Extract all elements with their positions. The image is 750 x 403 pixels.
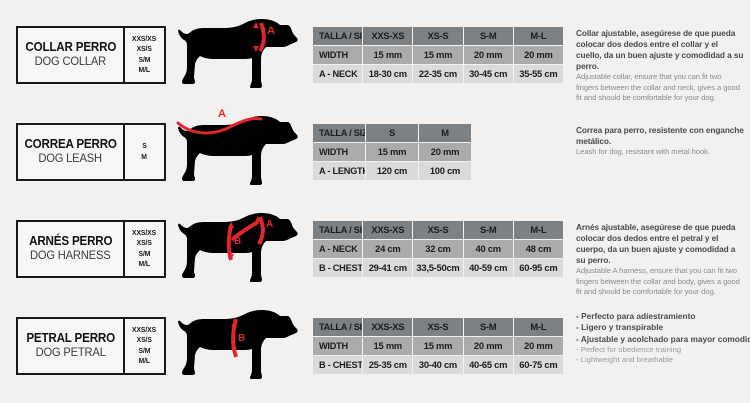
cell: 15 mm — [363, 336, 413, 355]
table-row: WIDTH 15 mm 20 mm — [313, 142, 472, 161]
dog-silhouette-petral: B — [172, 299, 302, 392]
row-label: B - CHEST — [313, 355, 363, 374]
size-codes-box: S M — [124, 123, 166, 181]
header-cell: XS-S — [413, 26, 463, 45]
cell: 24 cm — [363, 239, 413, 258]
size-table: TALLA / SIZE XXS-XS XS-S S-M M-L WIDTH 1… — [312, 26, 564, 84]
feature-item-es: - Perfecto para adiestramiento — [576, 311, 750, 322]
header-cell: XXS-XS — [363, 317, 413, 336]
product-row-collar: COLLAR PERRO DOG COLLAR XXS/XS XS/S S/M … — [0, 6, 750, 103]
description-es: Arnés ajustable, asegúrese de que pueda … — [576, 222, 744, 266]
product-row-petral: PETRAL PERRO DOG PETRAL XXS/XS XS/S S/M … — [0, 297, 750, 394]
table-row: WIDTH 15 mm 15 mm 20 mm 20 mm — [313, 336, 564, 355]
size-code: XXS/XS — [132, 325, 156, 335]
cell: 40 cm — [463, 239, 513, 258]
cell: 20 mm — [513, 336, 563, 355]
size-code: M/L — [139, 65, 150, 75]
cell: 18-30 cm — [363, 64, 413, 83]
row-label: B - CHEST — [313, 258, 363, 277]
table-header-row: TALLA / SIZE XXS-XS XS-S S-M M-L — [313, 220, 564, 239]
header-cell: TALLA / SIZE — [313, 317, 363, 336]
product-row-harness: ARNÉS PERRO DOG HARNESS XXS/XS XS/S S/M … — [0, 200, 750, 297]
size-code: S/M — [139, 249, 151, 259]
marker-label-a: A — [218, 108, 226, 120]
cell: 15 mm — [363, 45, 413, 64]
size-code: XS/S — [137, 238, 152, 248]
dog-silhouette-harness: A B — [172, 202, 302, 295]
product-name-box: CORREA PERRO DOG LEASH — [16, 123, 124, 181]
header-cell: S-M — [463, 26, 513, 45]
size-code: S/M — [139, 346, 151, 356]
description-es: Collar ajustable, asegúrese de que pueda… — [576, 28, 744, 72]
size-chart: COLLAR PERRO DOG COLLAR XXS/XS XS/S S/M … — [0, 0, 750, 403]
product-name-es: PETRAL PERRO — [26, 332, 115, 345]
product-name-es: COLLAR PERRO — [25, 41, 116, 54]
cell: 120 cm — [366, 161, 419, 180]
header-cell: M-L — [513, 317, 563, 336]
cell: 100 cm — [419, 161, 472, 180]
marker-label-a: A — [266, 219, 273, 230]
size-code: XS/S — [137, 44, 152, 54]
size-table: TALLA / SIZE XXS-XS XS-S S-M M-L WIDTH 1… — [312, 317, 564, 375]
size-table-wrap: TALLA / SIZE XXS-XS XS-S S-M M-L A - NEC… — [312, 220, 564, 278]
size-code: XS/S — [137, 335, 152, 345]
header-cell: TALLA / SIZE — [313, 26, 363, 45]
size-codes-box: XXS/XS XS/S S/M M/L — [124, 317, 166, 375]
header-cell: XXS-XS — [363, 26, 413, 45]
description-es: Correa para perro, resistente con enganc… — [576, 125, 744, 147]
cell: 22-35 cm — [413, 64, 463, 83]
header-cell: XXS-XS — [363, 220, 413, 239]
feature-item-es: - Ligero y transpirable — [576, 322, 750, 333]
product-name-es: ARNÉS PERRO — [29, 235, 112, 248]
label-block: CORREA PERRO DOG LEASH S M — [16, 123, 166, 181]
table-row: B - CHEST 25-35 cm 30-40 cm 40-65 cm 60-… — [313, 355, 564, 374]
header-cell: S-M — [463, 317, 513, 336]
feature-item-en: - Lightweight and breathable — [576, 355, 750, 365]
cell: 15 mm — [413, 336, 463, 355]
header-cell: S — [366, 123, 419, 142]
table-header-row: TALLA / SIZE XXS-XS XS-S S-M M-L — [313, 317, 564, 336]
header-cell: M-L — [513, 26, 563, 45]
feature-list: - Perfecto para adiestramiento - Ligero … — [576, 311, 750, 366]
description-block: Correa para perro, resistente con enganc… — [576, 103, 744, 158]
table-header-row: TALLA / SIZE XXS-XS XS-S S-M M-L — [313, 26, 564, 45]
size-table-wrap: TALLA / SIZE S M WIDTH 15 mm 20 mm A - L… — [312, 123, 564, 181]
cell: 35-55 cm — [513, 64, 563, 83]
product-name-box: ARNÉS PERRO DOG HARNESS — [16, 220, 124, 278]
marker-label-b: B — [238, 333, 245, 344]
header-cell: XS-S — [413, 317, 463, 336]
cell: 33,5-50cm — [413, 258, 463, 277]
cell: 20 mm — [419, 142, 472, 161]
cell: 20 mm — [463, 336, 513, 355]
size-code: M — [142, 152, 148, 162]
size-code: XXS/XS — [132, 228, 156, 238]
size-code: S — [142, 141, 146, 151]
row-label: WIDTH — [313, 45, 363, 64]
cell: 20 mm — [513, 45, 563, 64]
product-name-en: DOG COLLAR — [35, 55, 106, 67]
dog-silhouette-collar: A — [172, 8, 302, 101]
table-row: B - CHEST 29-41 cm 33,5-50cm 40-59 cm 60… — [313, 258, 564, 277]
table-row: A - NECK 18-30 cm 22-35 cm 30-45 cm 35-5… — [313, 64, 564, 83]
product-name-box: COLLAR PERRO DOG COLLAR — [16, 26, 124, 84]
product-name-es: CORREA PERRO — [24, 138, 116, 151]
description-en: Adjustable collar, ensure that you can f… — [576, 72, 744, 103]
size-codes-box: XXS/XS XS/S S/M M/L — [124, 26, 166, 84]
row-label: A - LENGTH — [313, 161, 366, 180]
header-cell: M-L — [513, 220, 563, 239]
marker-label-a: A — [267, 25, 275, 37]
description-block: - Perfecto para adiestramiento - Ligero … — [576, 297, 750, 366]
description-en: Adjustable A harness, ensure that you ca… — [576, 266, 744, 297]
description-block: Arnés ajustable, asegúrese de que pueda … — [576, 200, 744, 298]
product-name-en: DOG PETRAL — [35, 346, 105, 358]
product-name-en: DOG LEASH — [39, 152, 102, 164]
label-block: COLLAR PERRO DOG COLLAR XXS/XS XS/S S/M … — [16, 26, 166, 84]
cell: 30-40 cm — [413, 355, 463, 374]
cell: 20 mm — [463, 45, 513, 64]
label-block: ARNÉS PERRO DOG HARNESS XXS/XS XS/S S/M … — [16, 220, 166, 278]
description-en: Leash for dog, resistant with metal hook… — [576, 147, 744, 157]
size-code: S/M — [139, 55, 151, 65]
header-cell: S-M — [463, 220, 513, 239]
product-name-en: DOG HARNESS — [30, 249, 110, 261]
row-label: A - NECK — [313, 239, 363, 258]
dog-silhouette-leash: A — [172, 105, 302, 198]
size-code: M/L — [139, 259, 150, 269]
size-table-wrap: TALLA / SIZE XXS-XS XS-S S-M M-L WIDTH 1… — [312, 26, 564, 84]
cell: 40-65 cm — [463, 355, 513, 374]
cell: 15 mm — [366, 142, 419, 161]
table-row: A - NECK 24 cm 32 cm 40 cm 48 cm — [313, 239, 564, 258]
size-table: TALLA / SIZE S M WIDTH 15 mm 20 mm A - L… — [312, 123, 472, 181]
cell: 15 mm — [413, 45, 463, 64]
cell: 40-59 cm — [463, 258, 513, 277]
description-block: Collar ajustable, asegúrese de que pueda… — [576, 6, 744, 104]
cell: 60-95 cm — [513, 258, 563, 277]
header-cell: XS-S — [413, 220, 463, 239]
table-header-row: TALLA / SIZE S M — [313, 123, 472, 142]
size-code: M/L — [139, 356, 150, 366]
row-label: WIDTH — [313, 142, 366, 161]
row-label: A - NECK — [313, 64, 363, 83]
cell: 48 cm — [513, 239, 563, 258]
product-row-leash: CORREA PERRO DOG LEASH S M A TALLA / SIZ… — [0, 103, 750, 200]
row-label: WIDTH — [313, 336, 363, 355]
feature-item-en: - Perfect for obedience training — [576, 345, 750, 355]
cell: 30-45 cm — [463, 64, 513, 83]
header-cell: TALLA / SIZE — [313, 220, 363, 239]
table-row: A - LENGTH 120 cm 100 cm — [313, 161, 472, 180]
cell: 32 cm — [413, 239, 463, 258]
size-table: TALLA / SIZE XXS-XS XS-S S-M M-L A - NEC… — [312, 220, 564, 278]
cell: 25-35 cm — [363, 355, 413, 374]
product-name-box: PETRAL PERRO DOG PETRAL — [16, 317, 124, 375]
size-codes-box: XXS/XS XS/S S/M M/L — [124, 220, 166, 278]
cell: 60-75 cm — [513, 355, 563, 374]
cell: 29-41 cm — [363, 258, 413, 277]
table-row: WIDTH 15 mm 15 mm 20 mm 20 mm — [313, 45, 564, 64]
marker-label-b: B — [234, 236, 241, 247]
header-cell: M — [419, 123, 472, 142]
size-table-wrap: TALLA / SIZE XXS-XS XS-S S-M M-L WIDTH 1… — [312, 317, 564, 375]
header-cell: TALLA / SIZE — [313, 123, 366, 142]
size-code: XXS/XS — [132, 34, 156, 44]
label-block: PETRAL PERRO DOG PETRAL XXS/XS XS/S S/M … — [16, 317, 166, 375]
feature-item-es: - Ajustable y acolchado para mayor comod… — [576, 334, 750, 345]
